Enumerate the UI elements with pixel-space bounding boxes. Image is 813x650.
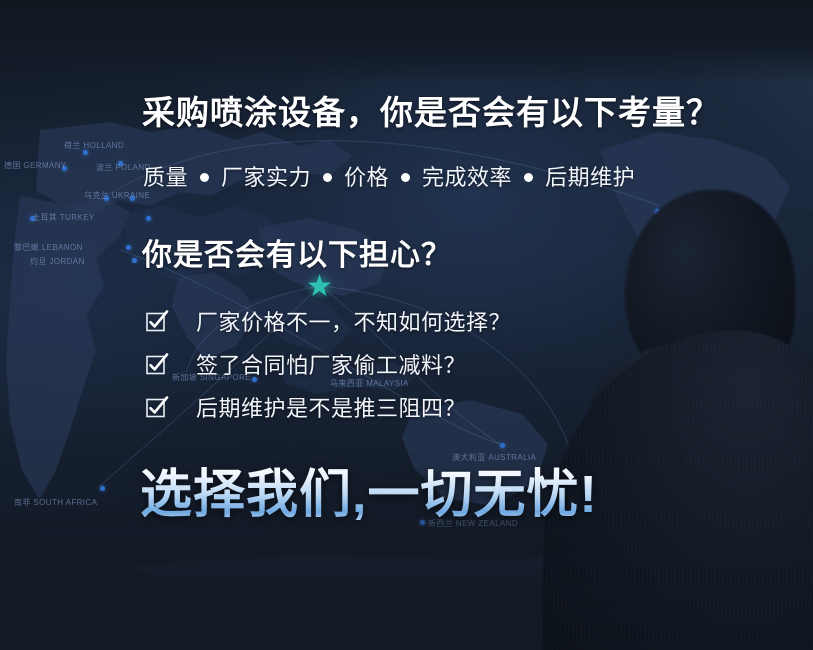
slogan-text: 选择我们,一切无忧! [140, 452, 598, 527]
considerations-list: 质量 厂家实力 价格 完成效率 后期维护 [143, 160, 635, 192]
bullet-separator-icon [323, 173, 332, 182]
list-item: 后期维护是不是推三阻四？ [146, 386, 511, 427]
bullet-separator-icon [401, 173, 410, 182]
promo-banner: 荷兰 HOLLAND 波兰 POLAND 德国 GERMANY 乌克兰 UKRA… [0, 0, 813, 650]
secondary-headline: 你是否会有以下担心？ [142, 230, 452, 274]
bullet-separator-icon [524, 173, 533, 182]
consideration-item-maintenance: 后期维护 [545, 160, 635, 192]
consideration-item-strength: 厂家实力 [221, 160, 311, 192]
primary-headline: 采购喷涂设备，你是否会有以下考量？ [142, 86, 720, 134]
consideration-item-price: 价格 [344, 160, 389, 192]
list-item: 签了合同怕厂家偷工减料？ [146, 343, 511, 384]
checkbox-checked-icon [146, 310, 168, 332]
consideration-item-efficiency: 完成效率 [422, 160, 512, 192]
consideration-item-quality: 质量 [143, 160, 188, 192]
bullet-separator-icon [200, 173, 209, 182]
worry-text: 后期维护是不是推三阻四？ [196, 391, 466, 423]
worry-text: 厂家价格不一，不知如何选择？ [196, 305, 511, 337]
checkbox-checked-icon [146, 396, 168, 418]
worries-list: 厂家价格不一，不知如何选择？ 签了合同怕厂家偷工减料？ [146, 300, 511, 429]
banner-content: 采购喷涂设备，你是否会有以下考量？ 质量 厂家实力 价格 完成效率 后期维护 你… [0, 0, 813, 650]
list-item: 厂家价格不一，不知如何选择？ [146, 300, 511, 341]
worry-text: 签了合同怕厂家偷工减料？ [196, 348, 466, 380]
checkbox-checked-icon [146, 353, 168, 375]
